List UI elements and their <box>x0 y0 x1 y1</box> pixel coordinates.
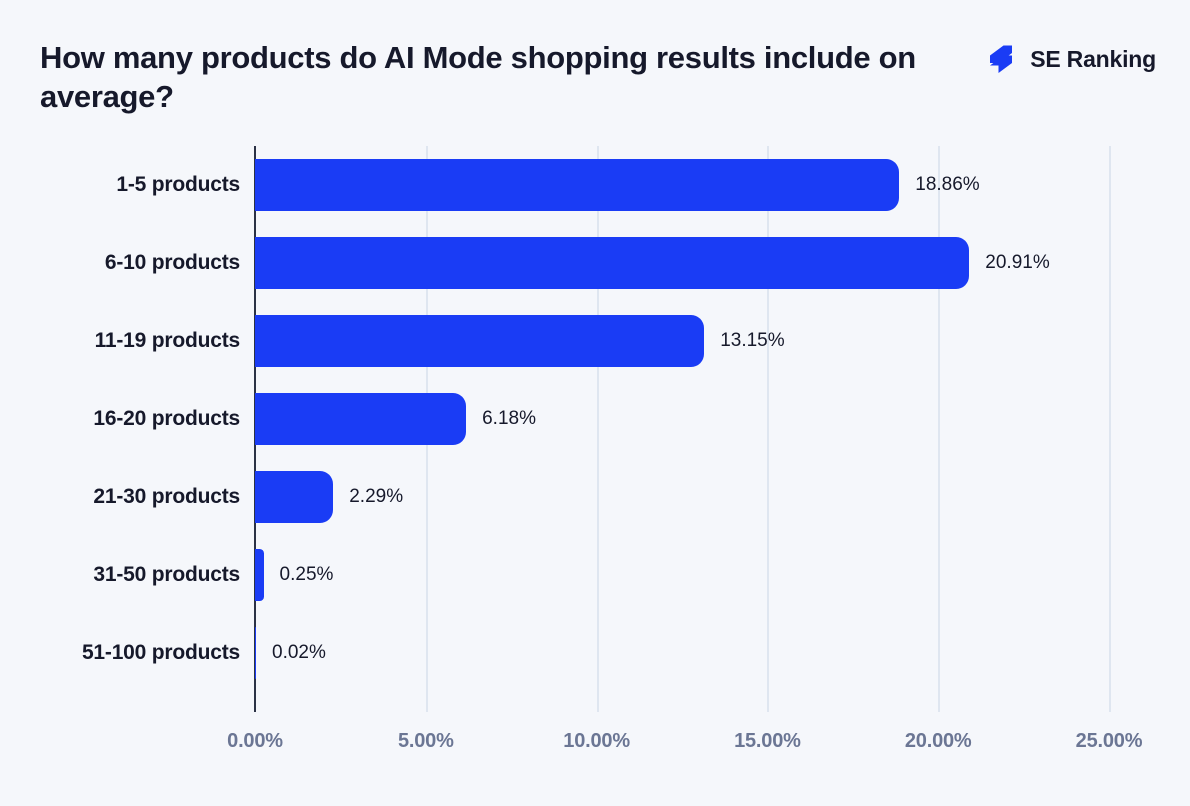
x-axis-tick-label: 25.00% <box>1076 730 1143 753</box>
bar-row: 20.91% <box>255 224 1190 302</box>
bar-row: 18.86% <box>255 146 1190 224</box>
bar-value-label: 2.29% <box>349 471 403 523</box>
x-axis-tick-label: 0.00% <box>227 730 283 753</box>
bar <box>255 627 256 679</box>
y-axis-label: 16-20 products <box>93 380 240 458</box>
bar-value-label: 0.02% <box>272 627 326 679</box>
bar <box>255 159 899 211</box>
x-axis-tick-label: 5.00% <box>398 730 454 753</box>
x-axis-tick-label: 20.00% <box>905 730 972 753</box>
y-axis-label: 31-50 products <box>93 536 240 614</box>
x-axis-tick-label: 10.00% <box>563 730 630 753</box>
bar-row: 6.18% <box>255 380 1190 458</box>
x-axis-tick-label: 15.00% <box>734 730 801 753</box>
bar-value-label: 6.18% <box>482 393 536 445</box>
bar-row: 0.02% <box>255 614 1190 692</box>
bar-row: 2.29% <box>255 458 1190 536</box>
bar <box>255 393 466 445</box>
y-axis-label: 11-19 products <box>95 302 240 380</box>
bar <box>255 549 264 601</box>
y-axis-label: 6-10 products <box>105 224 240 302</box>
y-axis-label: 21-30 products <box>93 458 240 536</box>
bar <box>255 315 704 367</box>
x-axis-tick-labels: 0.00%5.00%10.00%15.00%20.00%25.00% <box>255 730 1190 760</box>
bar <box>255 237 969 289</box>
bar-value-label: 18.86% <box>915 159 979 211</box>
bar-row: 13.15% <box>255 302 1190 380</box>
bar-value-label: 20.91% <box>985 237 1049 289</box>
y-axis-category-labels: 1-5 products6-10 products11-19 products1… <box>0 146 240 712</box>
bar-chart: 1-5 products6-10 products11-19 products1… <box>0 0 1190 806</box>
y-axis-label: 51-100 products <box>82 614 240 692</box>
chart-bars: 18.86%20.91%13.15%6.18%2.29%0.25%0.02% <box>255 146 1190 712</box>
bar-value-label: 0.25% <box>280 549 334 601</box>
bar-row: 0.25% <box>255 536 1190 614</box>
y-axis-label: 1-5 products <box>116 146 240 224</box>
bar <box>255 471 333 523</box>
bar-value-label: 13.15% <box>720 315 784 367</box>
